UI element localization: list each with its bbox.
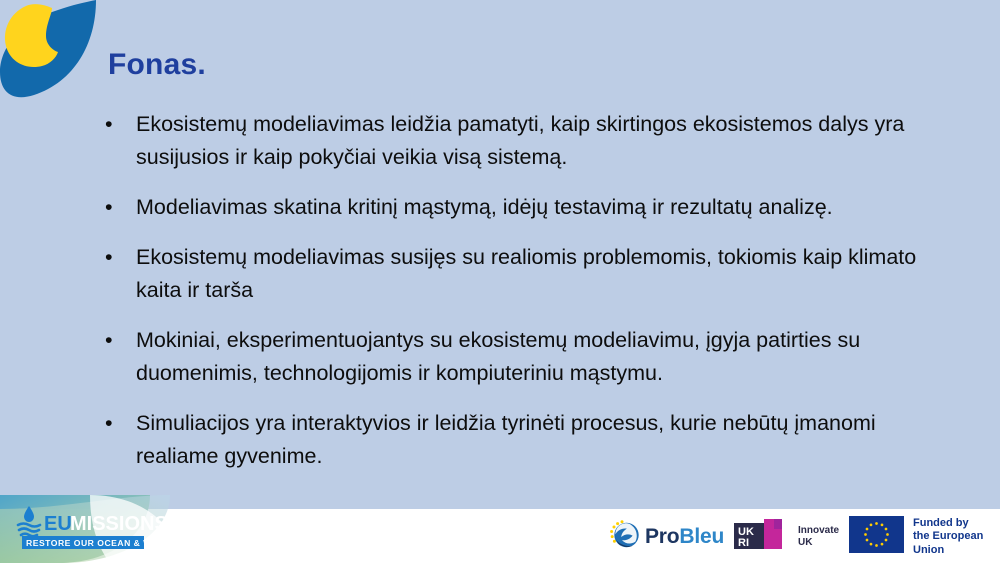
bullet-marker: • (105, 108, 113, 141)
list-item-text: Ekosistemų modeliavimas susijęs su reali… (136, 241, 946, 307)
probleu-word-bleu: Bleu (679, 525, 724, 548)
leaf-drop-logo-icon (0, 0, 102, 102)
list-item: • Modeliavimas skatina kritinį mąstymą, … (96, 191, 946, 224)
ukri-mark-icon: UK RI (734, 517, 790, 558)
probleu-word-pro: Pro (645, 525, 679, 548)
funded-by-eu-logo: Funded by the European Union (849, 516, 994, 558)
list-item-text: Modeliavimas skatina kritinį mąstymą, id… (136, 191, 946, 224)
partner-logos: ProBleu UK RI Innovate UK (608, 516, 994, 558)
eu-flag-icon (849, 516, 904, 558)
probleu-logo: ProBleu (608, 516, 724, 558)
presentation-slide: Fonas. • Ekosistemų modeliavimas leidžia… (0, 0, 1000, 563)
list-item-text: Ekosistemų modeliavimas leidžia pamatyti… (136, 108, 946, 174)
bullet-marker: • (105, 191, 113, 224)
bullet-marker: • (105, 241, 113, 274)
probleu-wordmark: ProBleu (645, 525, 724, 549)
funded-by-eu-label: Funded by the European Union (913, 517, 994, 558)
innovate-uk-label: Innovate UK (798, 525, 839, 549)
bullet-marker: • (105, 324, 113, 357)
bullet-list: • Ekosistemų modeliavimas leidžia pamaty… (96, 108, 946, 473)
list-item: • Ekosistemų modeliavimas leidžia pamaty… (96, 108, 946, 174)
list-item-text: Mokiniai, eksperimentuojantys su ekosist… (136, 324, 946, 390)
eu-missions-logo: EU MISSIONS RESTORE OUR OCEAN & WATERS (0, 495, 205, 563)
eu-missions-title: EU (44, 513, 72, 535)
funded-by-eu-line2: the European Union (913, 530, 983, 556)
innovate-uk-line1: Innovate (798, 525, 839, 536)
svg-text:RI: RI (738, 537, 749, 549)
list-item-text: Simuliacijos yra interaktyvios ir leidži… (136, 407, 946, 473)
bullet-marker: • (105, 407, 113, 440)
innovate-uk-line2: UK (798, 537, 812, 548)
page-title: Fonas. (108, 48, 206, 81)
eu-missions-subtitle: RESTORE OUR OCEAN & WATERS (26, 538, 182, 548)
funded-by-eu-line1: Funded by (913, 517, 969, 529)
svg-text:MISSIONS: MISSIONS (70, 513, 168, 535)
probleu-swirl-icon (608, 519, 640, 556)
list-item: • Mokiniai, eksperimentuojantys su ekosi… (96, 324, 946, 390)
ukri-innovate-uk-logo: UK RI Innovate UK (734, 516, 839, 558)
list-item: • Ekosistemų modeliavimas susijęs su rea… (96, 241, 946, 307)
list-item: • Simuliacijos yra interaktyvios ir leid… (96, 407, 946, 473)
